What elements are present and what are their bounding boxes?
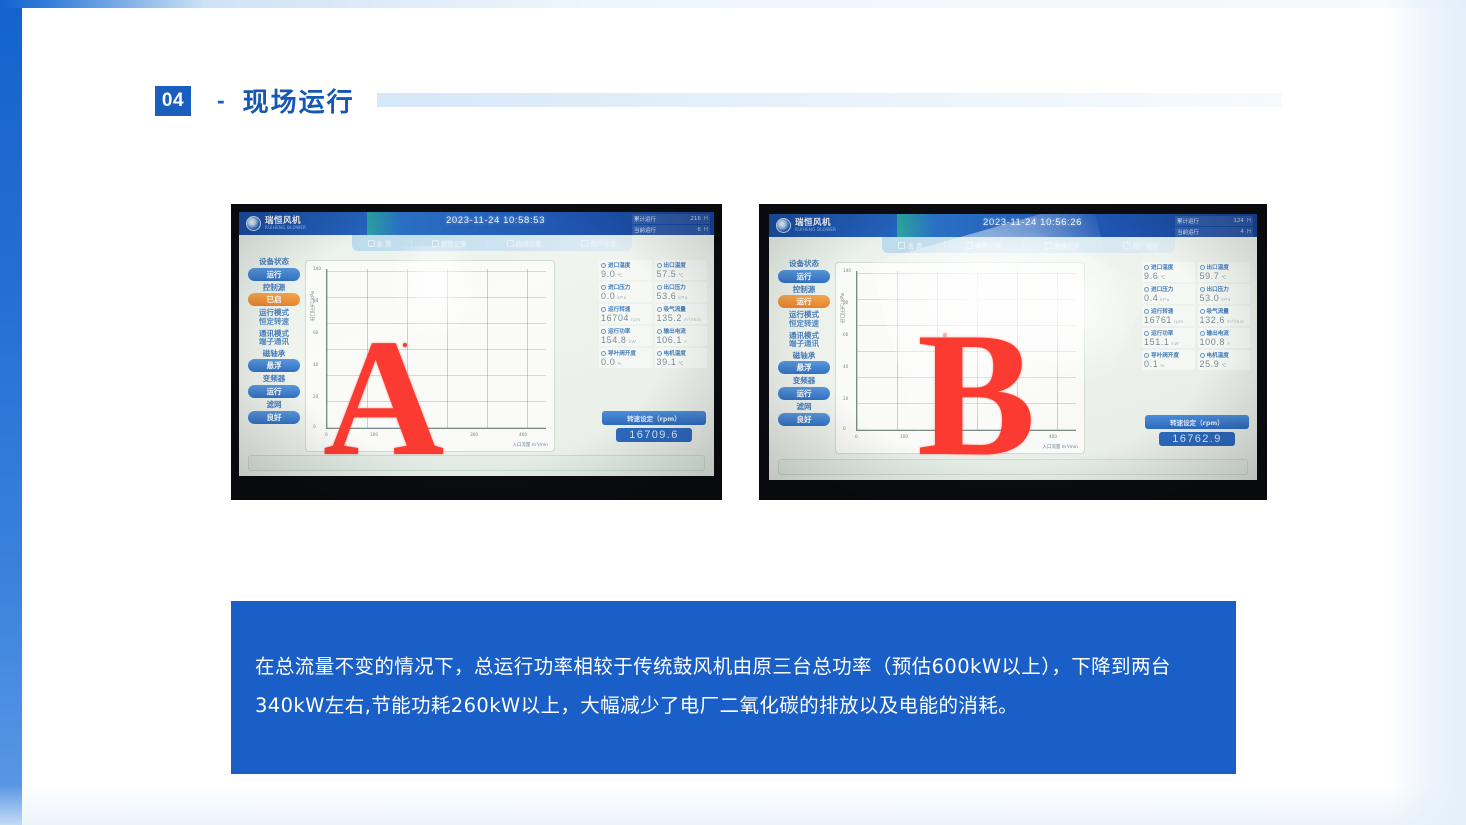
chart-x-tick: 100 <box>900 434 908 439</box>
readout-unit: % <box>1160 363 1165 368</box>
brand-subtitle: RUIHENG BLOWER <box>265 226 306 230</box>
status-badge: 运行 <box>248 268 300 281</box>
readout-motor-temp: 电机温度 25.9℃ <box>1198 350 1251 370</box>
readout-unit: ℃ <box>1221 363 1227 368</box>
chart-x-axis-label: 入口流量 m³/min <box>1042 444 1078 450</box>
status-badge: 已启 <box>248 293 300 306</box>
home-icon <box>368 240 375 247</box>
setpoint-label: 转速设定（rpm） <box>1145 415 1249 429</box>
photo-row: 瑞恒风机 RUIHENG BLOWER 2023-11-24 10:58:53 … <box>231 204 1267 500</box>
status-control-source: 控制源 运行 <box>778 286 830 309</box>
counter-total-runtime: 累计运行 216 H <box>632 214 710 224</box>
readout-value: 0.1 <box>1144 359 1158 369</box>
status-control-source: 控制源 已启 <box>248 284 300 307</box>
chart-y-tick: 40 <box>843 364 848 369</box>
motor-temp-icon <box>657 351 662 356</box>
chart-y-tick: 140 <box>313 266 321 271</box>
counter-current-runtime: 当前运行 6 H <box>632 225 710 235</box>
readout-unit: A <box>1227 341 1231 346</box>
readout-inlet-pressure: 进口压力 0.0kPa <box>599 282 652 302</box>
status-badge: 悬浮 <box>248 359 300 372</box>
section-title-text: 现场运行 <box>243 82 355 119</box>
status-label: 变频器 <box>778 377 830 386</box>
nav-item-alarm-log[interactable]: 报警记录 <box>432 238 467 248</box>
readout-label: 电机温度 <box>1207 351 1229 359</box>
readout-label: 导叶阀开度 <box>608 349 636 357</box>
flow-icon <box>657 307 662 312</box>
valve-icon <box>1144 353 1149 358</box>
hmi-screen: 瑞恒风机 RUIHENG BLOWER 2023-11-24 10:58:53 … <box>239 212 714 476</box>
chart-y-tick: 80 <box>843 300 848 305</box>
readout-value: 16761 <box>1144 315 1172 325</box>
speed-setpoint-panel[interactable]: 转速设定（rpm） 16762.9 <box>1145 415 1249 446</box>
readout-unit: kPa <box>617 295 627 300</box>
status-label: 控制源 <box>248 284 300 293</box>
readout-label: 运行转速 <box>608 305 630 313</box>
chart-plot-area: 140 80 60 40 20 0 0 100 200 300 400 <box>326 269 546 429</box>
chart-y-tick: 0 <box>313 424 316 429</box>
nav-item-curve-log[interactable]: 曲线记录 <box>1045 240 1080 250</box>
nav-separator: | <box>411 240 413 247</box>
readout-value: 9.0 <box>601 269 615 279</box>
operating-point-marker <box>403 343 407 347</box>
brand-subtitle: RUIHENG BLOWER <box>795 228 836 232</box>
caption-block: 在总流量不变的情况下，总运行功率相较于传统鼓风机由原三台总功率（预估600kW以… <box>231 601 1236 774</box>
status-value: 恒定转速 <box>248 318 300 327</box>
chart-y-tick: 0 <box>843 426 846 431</box>
readout-suction-flow: 吸气流量 135.2m³/min <box>655 304 708 324</box>
speed-setpoint-panel[interactable]: 转速设定（rpm） 16709.6 <box>602 411 706 442</box>
readout-value: 0.0 <box>601 291 615 301</box>
power-icon <box>1144 331 1149 336</box>
counter-label: 当前运行 <box>634 226 656 234</box>
readout-output-current: 输出电流 100.8A <box>1198 328 1251 348</box>
status-filter: 滤网 良好 <box>248 401 300 424</box>
readout-running-speed: 运行转速 16704rpm <box>599 304 652 324</box>
hmi-timestamp: 2023-11-24 10:58:53 <box>446 215 545 226</box>
nav-label: 曲线记录 <box>1054 240 1080 250</box>
status-filter: 滤网 良好 <box>778 403 830 426</box>
nav-item-alarm-log[interactable]: 报警记录 <box>966 240 1001 250</box>
chart-x-tick: 400 <box>519 432 527 437</box>
gauge-icon <box>1144 287 1149 292</box>
readout-unit: m³/min <box>684 317 701 322</box>
readout-label: 输出电流 <box>664 327 686 335</box>
chart-plot-area: 140 80 60 40 20 0 0 100 200 300 400 <box>856 271 1076 431</box>
hmi-nav-bar[interactable]: 主 页 | 报警记录 | 曲线记录 | 用户设置 <box>882 237 1175 253</box>
readout-unit: % <box>617 361 622 366</box>
readout-value: 16704 <box>601 313 629 323</box>
status-label: 设备状态 <box>248 258 300 267</box>
readout-unit: kPa <box>1160 297 1170 302</box>
readout-value: 100.8 <box>1200 337 1226 347</box>
hmi-nav-bar[interactable]: 主 页 | 报警记录 | 曲线记录 | 用户设置 <box>352 235 632 251</box>
alarm-icon <box>966 242 973 249</box>
chart-x-tick: 0 <box>855 434 858 439</box>
hmi-screen: 瑞恒风机 RUIHENG BLOWER 2023-11-24 10:56:26 … <box>769 214 1257 480</box>
thermometer-icon <box>1144 265 1149 270</box>
chart-x-tick: 200 <box>950 434 958 439</box>
nav-separator: | <box>561 240 563 247</box>
status-badge: 运行 <box>248 385 300 398</box>
status-comm-mode: 通讯模式 端子通讯 <box>248 330 300 347</box>
status-badge: 运行 <box>778 295 830 308</box>
readout-label: 输出电流 <box>1207 329 1229 337</box>
hmi-photo-b: 瑞恒风机 RUIHENG BLOWER 2023-11-24 10:56:26 … <box>759 204 1267 500</box>
readout-value: 151.1 <box>1144 337 1170 347</box>
readout-value: 57.5 <box>657 269 677 279</box>
swirl-logo-icon <box>776 218 791 233</box>
hmi-footer-bar <box>778 459 1248 475</box>
nav-item-curve-log[interactable]: 曲线记录 <box>507 238 542 248</box>
status-run-mode: 运行模式 恒定转速 <box>778 311 830 328</box>
counter-unit: H <box>704 216 708 222</box>
chart-y-tick: 140 <box>843 268 851 273</box>
readout-unit: ℃ <box>678 273 684 278</box>
nav-label: 主 页 <box>907 240 922 250</box>
readout-value: 9.6 <box>1144 271 1158 281</box>
readout-value: 0.0 <box>601 357 615 367</box>
thermometer-icon <box>601 263 606 268</box>
process-readout-grid: 进口温度 9.0℃ 出口温度 57.5℃ 进口压力 0.0kPa 出口压力 53… <box>599 260 707 368</box>
caption-text: 在总流量不变的情况下，总运行功率相较于传统鼓风机由原三台总功率（预估600kW以… <box>255 647 1215 725</box>
nav-separator: | <box>1101 242 1103 249</box>
nav-separator: | <box>943 242 945 249</box>
status-label: 滤网 <box>778 403 830 412</box>
hmi-photo-a: 瑞恒风机 RUIHENG BLOWER 2023-11-24 10:58:53 … <box>231 204 722 500</box>
nav-separator: | <box>1022 242 1024 249</box>
status-label: 设备状态 <box>778 260 830 269</box>
setpoint-value[interactable]: 16709.6 <box>616 428 692 442</box>
status-inverter: 变频器 运行 <box>248 375 300 398</box>
power-icon <box>601 329 606 334</box>
home-icon <box>898 242 905 249</box>
swirl-logo-icon <box>246 216 261 231</box>
readout-value: 132.6 <box>1200 315 1226 325</box>
counter-unit: H <box>1247 229 1251 235</box>
curve-icon <box>1045 242 1052 249</box>
current-icon <box>1200 331 1205 336</box>
chart-y-tick: 80 <box>313 298 318 303</box>
readout-unit: ℃ <box>678 361 684 366</box>
section-dash: - <box>217 87 225 114</box>
readout-unit: rpm <box>1174 319 1184 324</box>
thermometer-icon <box>1200 265 1205 270</box>
curve-icon <box>507 240 514 247</box>
nav-separator: | <box>486 240 488 247</box>
setpoint-value[interactable]: 16762.9 <box>1159 432 1235 446</box>
performance-curve-chart: 出口压力 kPa 140 80 60 40 20 0 0 100 200 300… <box>835 262 1085 454</box>
chart-x-tick: 300 <box>1000 434 1008 439</box>
readout-unit: ℃ <box>617 273 623 278</box>
readout-value: 53.0 <box>1200 293 1220 303</box>
nav-item-home[interactable]: 主 页 <box>898 240 922 250</box>
readout-running-power: 运行功率 151.1kW <box>1142 328 1195 348</box>
readout-unit: ℃ <box>1160 275 1166 280</box>
status-device-state: 设备状态 运行 <box>248 258 300 281</box>
motor-temp-icon <box>1200 353 1205 358</box>
status-label: 变频器 <box>248 375 300 384</box>
brand-name: 瑞恒风机 <box>795 219 836 228</box>
nav-label: 用户设置 <box>590 238 616 248</box>
readout-unit: kW <box>629 339 637 344</box>
counter-value: 216 <box>690 216 701 222</box>
chart-y-axis-label: 出口压力 kPa <box>839 293 846 323</box>
status-label: 磁轴承 <box>778 352 830 361</box>
readout-guide-vane-opening: 导叶阀开度 0.1% <box>1142 350 1195 370</box>
readout-inlet-temp: 进口温度 9.6℃ <box>1142 262 1195 282</box>
status-device-state: 设备状态 运行 <box>778 260 830 283</box>
section-number-badge: 04 <box>155 86 191 116</box>
gauge-icon <box>657 285 662 290</box>
counter-unit: H <box>704 227 708 233</box>
chart-x-tick: 100 <box>370 432 378 437</box>
title-underline-bar <box>377 93 1282 107</box>
speed-icon <box>1144 309 1149 314</box>
readout-label: 进口温度 <box>1151 263 1173 271</box>
operating-point-marker <box>943 333 947 337</box>
counter-value: 124 <box>1233 218 1244 224</box>
runtime-counters: 累计运行 216 H 当前运行 6 H <box>632 214 710 235</box>
status-value: 端子通讯 <box>778 340 830 349</box>
readout-output-current: 输出电流 106.1A <box>655 326 708 346</box>
status-comm-mode: 通讯模式 端子通讯 <box>778 332 830 349</box>
decorative-top-border <box>0 0 1466 8</box>
chart-x-tick: 400 <box>1049 434 1057 439</box>
readout-value: 106.1 <box>657 335 683 345</box>
status-label: 磁轴承 <box>248 350 300 359</box>
readout-value: 53.6 <box>657 291 677 301</box>
status-label: 滤网 <box>248 401 300 410</box>
chart-x-axis-label: 入口流量 m³/min <box>512 442 548 448</box>
chart-x-tick: 0 <box>325 432 328 437</box>
readout-label: 出口温度 <box>664 261 686 269</box>
status-badge: 良好 <box>778 413 830 426</box>
brand-name: 瑞恒风机 <box>265 217 306 226</box>
readout-motor-temp: 电机温度 39.1℃ <box>655 348 708 368</box>
counter-label: 当前运行 <box>1177 228 1199 236</box>
user-settings-icon <box>581 240 588 247</box>
counter-label: 累计运行 <box>634 215 656 223</box>
readout-value: 154.8 <box>601 335 627 345</box>
nav-label: 用户设置 <box>1132 240 1158 250</box>
readout-outlet-pressure: 出口压力 53.6kPa <box>655 282 708 302</box>
readout-guide-vane-opening: 导叶阀开度 0.0% <box>599 348 652 368</box>
speed-icon <box>601 307 606 312</box>
process-readout-grid: 进口温度 9.6℃ 出口温度 59.7℃ 进口压力 0.4kPa 出口压力 53… <box>1142 262 1250 370</box>
chart-x-tick: 200 <box>420 432 428 437</box>
readout-label: 吸气流量 <box>664 305 686 313</box>
readout-value: 39.1 <box>657 357 677 367</box>
readout-value: 135.2 <box>657 313 683 323</box>
gauge-icon <box>601 285 606 290</box>
readout-outlet-temp: 出口温度 57.5℃ <box>655 260 708 280</box>
readout-label: 出口压力 <box>664 283 686 291</box>
readout-label: 出口压力 <box>1207 285 1229 293</box>
readout-unit: kPa <box>678 295 688 300</box>
hmi-status-sidebar: 设备状态 运行 控制源 运行 运行模式 恒定转速 通讯模式 端子通讯 磁轴承 <box>778 260 830 426</box>
readout-label: 进口压力 <box>1151 285 1173 293</box>
chart-y-tick: 60 <box>313 330 318 335</box>
readout-inlet-pressure: 进口压力 0.4kPa <box>1142 284 1195 304</box>
hmi-footer-bar <box>248 455 705 471</box>
brand-logo: 瑞恒风机 RUIHENG BLOWER <box>769 214 897 237</box>
status-label: 控制源 <box>778 286 830 295</box>
counter-label: 累计运行 <box>1177 217 1199 225</box>
chart-y-tick: 20 <box>313 394 318 399</box>
readout-label: 运行功率 <box>1151 329 1173 337</box>
readout-unit: rpm <box>631 317 641 322</box>
status-value: 端子通讯 <box>248 338 300 347</box>
counter-unit: H <box>1247 218 1251 224</box>
brand-logo: 瑞恒风机 RUIHENG BLOWER <box>239 212 367 235</box>
readout-running-power: 运行功率 154.8kW <box>599 326 652 346</box>
status-badge: 良好 <box>248 411 300 424</box>
setpoint-label: 转速设定（rpm） <box>602 411 706 425</box>
status-magnetic-bearing: 磁轴承 悬浮 <box>248 350 300 373</box>
chart-y-tick: 60 <box>843 332 848 337</box>
nav-item-user-settings[interactable]: 用户设置 <box>581 238 616 248</box>
readout-label: 运行转速 <box>1151 307 1173 315</box>
counter-current-runtime: 当前运行 4 H <box>1175 227 1253 237</box>
readout-inlet-temp: 进口温度 9.0℃ <box>599 260 652 280</box>
nav-label: 主 页 <box>377 238 392 248</box>
status-inverter: 变频器 运行 <box>778 377 830 400</box>
user-settings-icon <box>1123 242 1130 249</box>
readout-unit: A <box>684 339 688 344</box>
status-badge: 运行 <box>778 270 830 283</box>
gauge-icon <box>1200 287 1205 292</box>
valve-icon <box>601 351 606 356</box>
readout-label: 电机温度 <box>664 349 686 357</box>
readout-unit: m³/min <box>1227 319 1244 324</box>
status-magnetic-bearing: 磁轴承 悬浮 <box>778 352 830 375</box>
hmi-status-sidebar: 设备状态 运行 控制源 已启 运行模式 恒定转速 通讯模式 端子通讯 磁轴承 <box>248 258 300 424</box>
counter-total-runtime: 累计运行 124 H <box>1175 216 1253 226</box>
readout-label: 导叶阀开度 <box>1151 351 1179 359</box>
readout-label: 吸气流量 <box>1207 307 1229 315</box>
readout-label: 出口温度 <box>1207 263 1229 271</box>
counter-value: 6 <box>697 227 701 233</box>
thermometer-icon <box>657 263 662 268</box>
readout-label: 进口温度 <box>608 261 630 269</box>
runtime-counters: 累计运行 124 H 当前运行 4 H <box>1175 216 1253 237</box>
status-badge: 悬浮 <box>778 361 830 374</box>
readout-unit: kW <box>1172 341 1180 346</box>
hmi-header: 瑞恒风机 RUIHENG BLOWER 2023-11-24 10:58:53 … <box>239 212 714 235</box>
readout-value: 59.7 <box>1200 271 1220 281</box>
chart-x-tick: 300 <box>470 432 478 437</box>
readout-value: 0.4 <box>1144 293 1158 303</box>
hmi-timestamp: 2023-11-24 10:56:26 <box>983 217 1082 228</box>
status-run-mode: 运行模式 恒定转速 <box>248 309 300 326</box>
readout-unit: ℃ <box>1221 275 1227 280</box>
counter-value: 4 <box>1240 229 1244 235</box>
chart-y-axis-label: 出口压力 kPa <box>309 291 316 321</box>
nav-item-home[interactable]: 主 页 <box>368 238 392 248</box>
nav-label: 曲线记录 <box>516 238 542 248</box>
readout-running-speed: 运行转速 16761rpm <box>1142 306 1195 326</box>
page-title: 04 - 现场运行 <box>155 82 355 119</box>
chart-y-tick: 40 <box>313 362 318 367</box>
readout-outlet-pressure: 出口压力 53.0kPa <box>1198 284 1251 304</box>
nav-label: 报警记录 <box>975 240 1001 250</box>
alarm-icon <box>432 240 439 247</box>
flow-icon <box>1200 309 1205 314</box>
current-icon <box>657 329 662 334</box>
readout-suction-flow: 吸气流量 132.6m³/min <box>1198 306 1251 326</box>
decorative-left-border <box>0 0 22 825</box>
status-value: 恒定转速 <box>778 320 830 329</box>
readout-outlet-temp: 出口温度 59.7℃ <box>1198 262 1251 282</box>
chart-y-tick: 20 <box>843 396 848 401</box>
nav-item-user-settings[interactable]: 用户设置 <box>1123 240 1158 250</box>
readout-unit: kPa <box>1221 297 1231 302</box>
readout-label: 运行功率 <box>608 327 630 335</box>
nav-label: 报警记录 <box>441 238 467 248</box>
hmi-header: 瑞恒风机 RUIHENG BLOWER 2023-11-24 10:56:26 … <box>769 214 1257 237</box>
status-badge: 运行 <box>778 387 830 400</box>
readout-value: 25.9 <box>1200 359 1220 369</box>
performance-curve-chart: 出口压力 kPa 140 80 60 40 20 0 0 100 200 300… <box>305 260 555 452</box>
readout-label: 进口压力 <box>608 283 630 291</box>
